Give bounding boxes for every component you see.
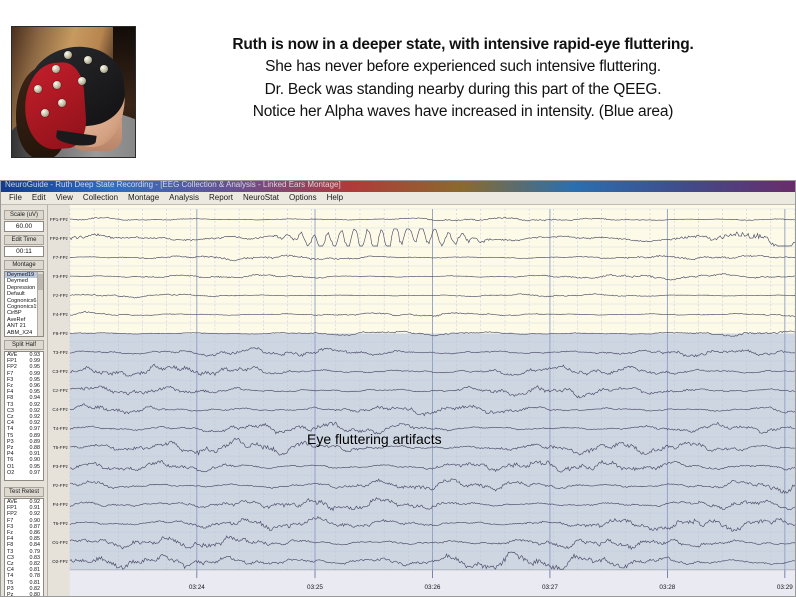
channel-label-F4-FPz: F4-FPz — [53, 312, 69, 317]
slide-text-block: Ruth is now in a deeper state, with inte… — [142, 34, 784, 124]
electrode-icon — [58, 99, 66, 107]
scale-input[interactable]: 60.00 — [4, 221, 44, 232]
edit-time-input[interactable]: 00:11 — [4, 246, 44, 257]
channel-label-C3-FPz: C3-FPz — [52, 369, 68, 374]
menu-item-view[interactable]: View — [51, 192, 78, 204]
electrode-icon — [78, 77, 86, 85]
time-tick-label: 03:24 — [189, 584, 205, 591]
channel-label-O1-FPz: O1-FPz — [52, 540, 69, 545]
menu-item-edit[interactable]: Edit — [27, 192, 51, 204]
menu-item-help[interactable]: Help — [322, 192, 348, 204]
menu-item-file[interactable]: File — [4, 192, 27, 204]
menu-item-report[interactable]: Report — [204, 192, 238, 204]
channel-label-FP1-FPz: FP1-FPz — [50, 217, 69, 222]
window-title-bar[interactable]: NeuroGuide - Ruth Deep State Recording -… — [1, 181, 796, 192]
menu-item-analysis[interactable]: Analysis — [164, 192, 204, 204]
test-retest-channel: Pz — [7, 592, 13, 597]
channel-label-T3-FPz: T3-FPz — [53, 350, 69, 355]
menu-bar[interactable]: FileEditViewCollectionMontageAnalysisRep… — [1, 192, 796, 205]
menu-item-options[interactable]: Options — [284, 192, 322, 204]
channel-label-FP2-FPz: FP2-FPz — [50, 236, 69, 241]
slide-header: Ruth is now in a deeper state, with inte… — [0, 0, 796, 180]
scale-label: Scale (uV) — [4, 210, 44, 220]
channel-label-O2-FPz: O2-FPz — [52, 559, 69, 564]
annotation-eye-flutter: Eye fluttering artifacts — [307, 431, 442, 447]
neuroguide-application-window: NeuroGuide - Ruth Deep State Recording -… — [0, 180, 796, 597]
menu-item-montage[interactable]: Montage — [123, 192, 164, 204]
electrode-icon — [41, 109, 49, 117]
channel-label-F7-FPz: F7-FPz — [53, 255, 69, 260]
left-control-panel: Scale (uV) 60.00 Edit Time 00:11 Montage… — [1, 205, 48, 596]
split-half-listbox[interactable]: AVE0.93FP10.99FP20.95F70.99F30.95Fz0.96F… — [4, 351, 44, 481]
time-tick-label: 03:29 — [777, 584, 793, 591]
time-tick-label: 03:25 — [307, 584, 323, 591]
headline-line-1: Ruth is now in a deeper state, with inte… — [142, 34, 784, 56]
electrode-icon — [84, 56, 92, 64]
test-retest-listbox[interactable]: AVE0.92FP10.91FP20.92F70.90F30.87Fz0.86F… — [4, 498, 44, 597]
channel-label-Cz-FPz: Cz-FPz — [53, 388, 69, 393]
channel-label-Pz-FPz: Pz-FPz — [53, 483, 69, 488]
window-title-text: NeuroGuide - Ruth Deep State Recording -… — [5, 181, 341, 189]
split-half-channel: O2 — [7, 470, 14, 476]
eeg-traces-svg: FP1-FPzFP2-FPzF7-FPzF3-FPzFz-FPzF4-FPzF8… — [48, 205, 795, 596]
montage-label: Montage — [4, 260, 44, 270]
channel-label-T4-FPz: T4-FPz — [53, 426, 69, 431]
electrode-icon — [100, 65, 108, 73]
electrode-icon — [53, 81, 61, 89]
headline-line-2: She has never before experienced such in… — [142, 56, 784, 78]
montage-scrollbar[interactable] — [37, 272, 43, 336]
electrode-icon — [64, 51, 72, 59]
time-tick-label: 03:28 — [659, 584, 675, 591]
electrode-icon — [34, 85, 42, 93]
scrollbar-thumb[interactable] — [38, 274, 43, 290]
channel-label-C4-FPz: C4-FPz — [52, 407, 68, 412]
subject-photo — [11, 26, 136, 158]
time-tick-label: 03:27 — [542, 584, 558, 591]
headline-line-3: Dr. Beck was standing nearby during this… — [142, 79, 784, 101]
channel-label-F3-FPz: F3-FPz — [53, 274, 69, 279]
channel-label-gutter — [48, 205, 70, 596]
split-half-value: 0.97 — [30, 470, 41, 476]
eeg-waveform-chart[interactable]: FP1-FPzFP2-FPzF7-FPzF3-FPzFz-FPzF4-FPzF8… — [48, 205, 795, 596]
split-half-label: Split Half — [4, 340, 44, 350]
headline-line-4: Notice her Alpha waves have increased in… — [142, 101, 784, 123]
channel-label-Fz-FPz: Fz-FPz — [53, 293, 68, 298]
edit-time-label: Edit Time — [4, 235, 44, 245]
time-tick-label: 03:26 — [425, 584, 441, 591]
montage-listbox[interactable]: Deymed19DeymedDepressionDefaultCognonics… — [4, 271, 44, 337]
test-retest-value: 0.80 — [30, 592, 41, 597]
channel-label-T5-FPz: T5-FPz — [53, 445, 69, 450]
menu-item-collection[interactable]: Collection — [78, 192, 123, 204]
test-retest-row[interactable]: Pz0.80 — [5, 592, 43, 597]
channel-label-P3-FPz: P3-FPz — [53, 464, 69, 469]
channel-label-F8-FPz: F8-FPz — [53, 331, 69, 336]
test-retest-label: Test Retest — [4, 487, 44, 497]
channel-label-P4-FPz: P4-FPz — [53, 502, 69, 507]
channel-label-T6-FPz: T6-FPz — [53, 521, 69, 526]
split-half-row[interactable]: O20.97 — [5, 470, 43, 476]
electrode-icon — [52, 65, 60, 73]
menu-item-neurostat[interactable]: NeuroStat — [238, 192, 284, 204]
